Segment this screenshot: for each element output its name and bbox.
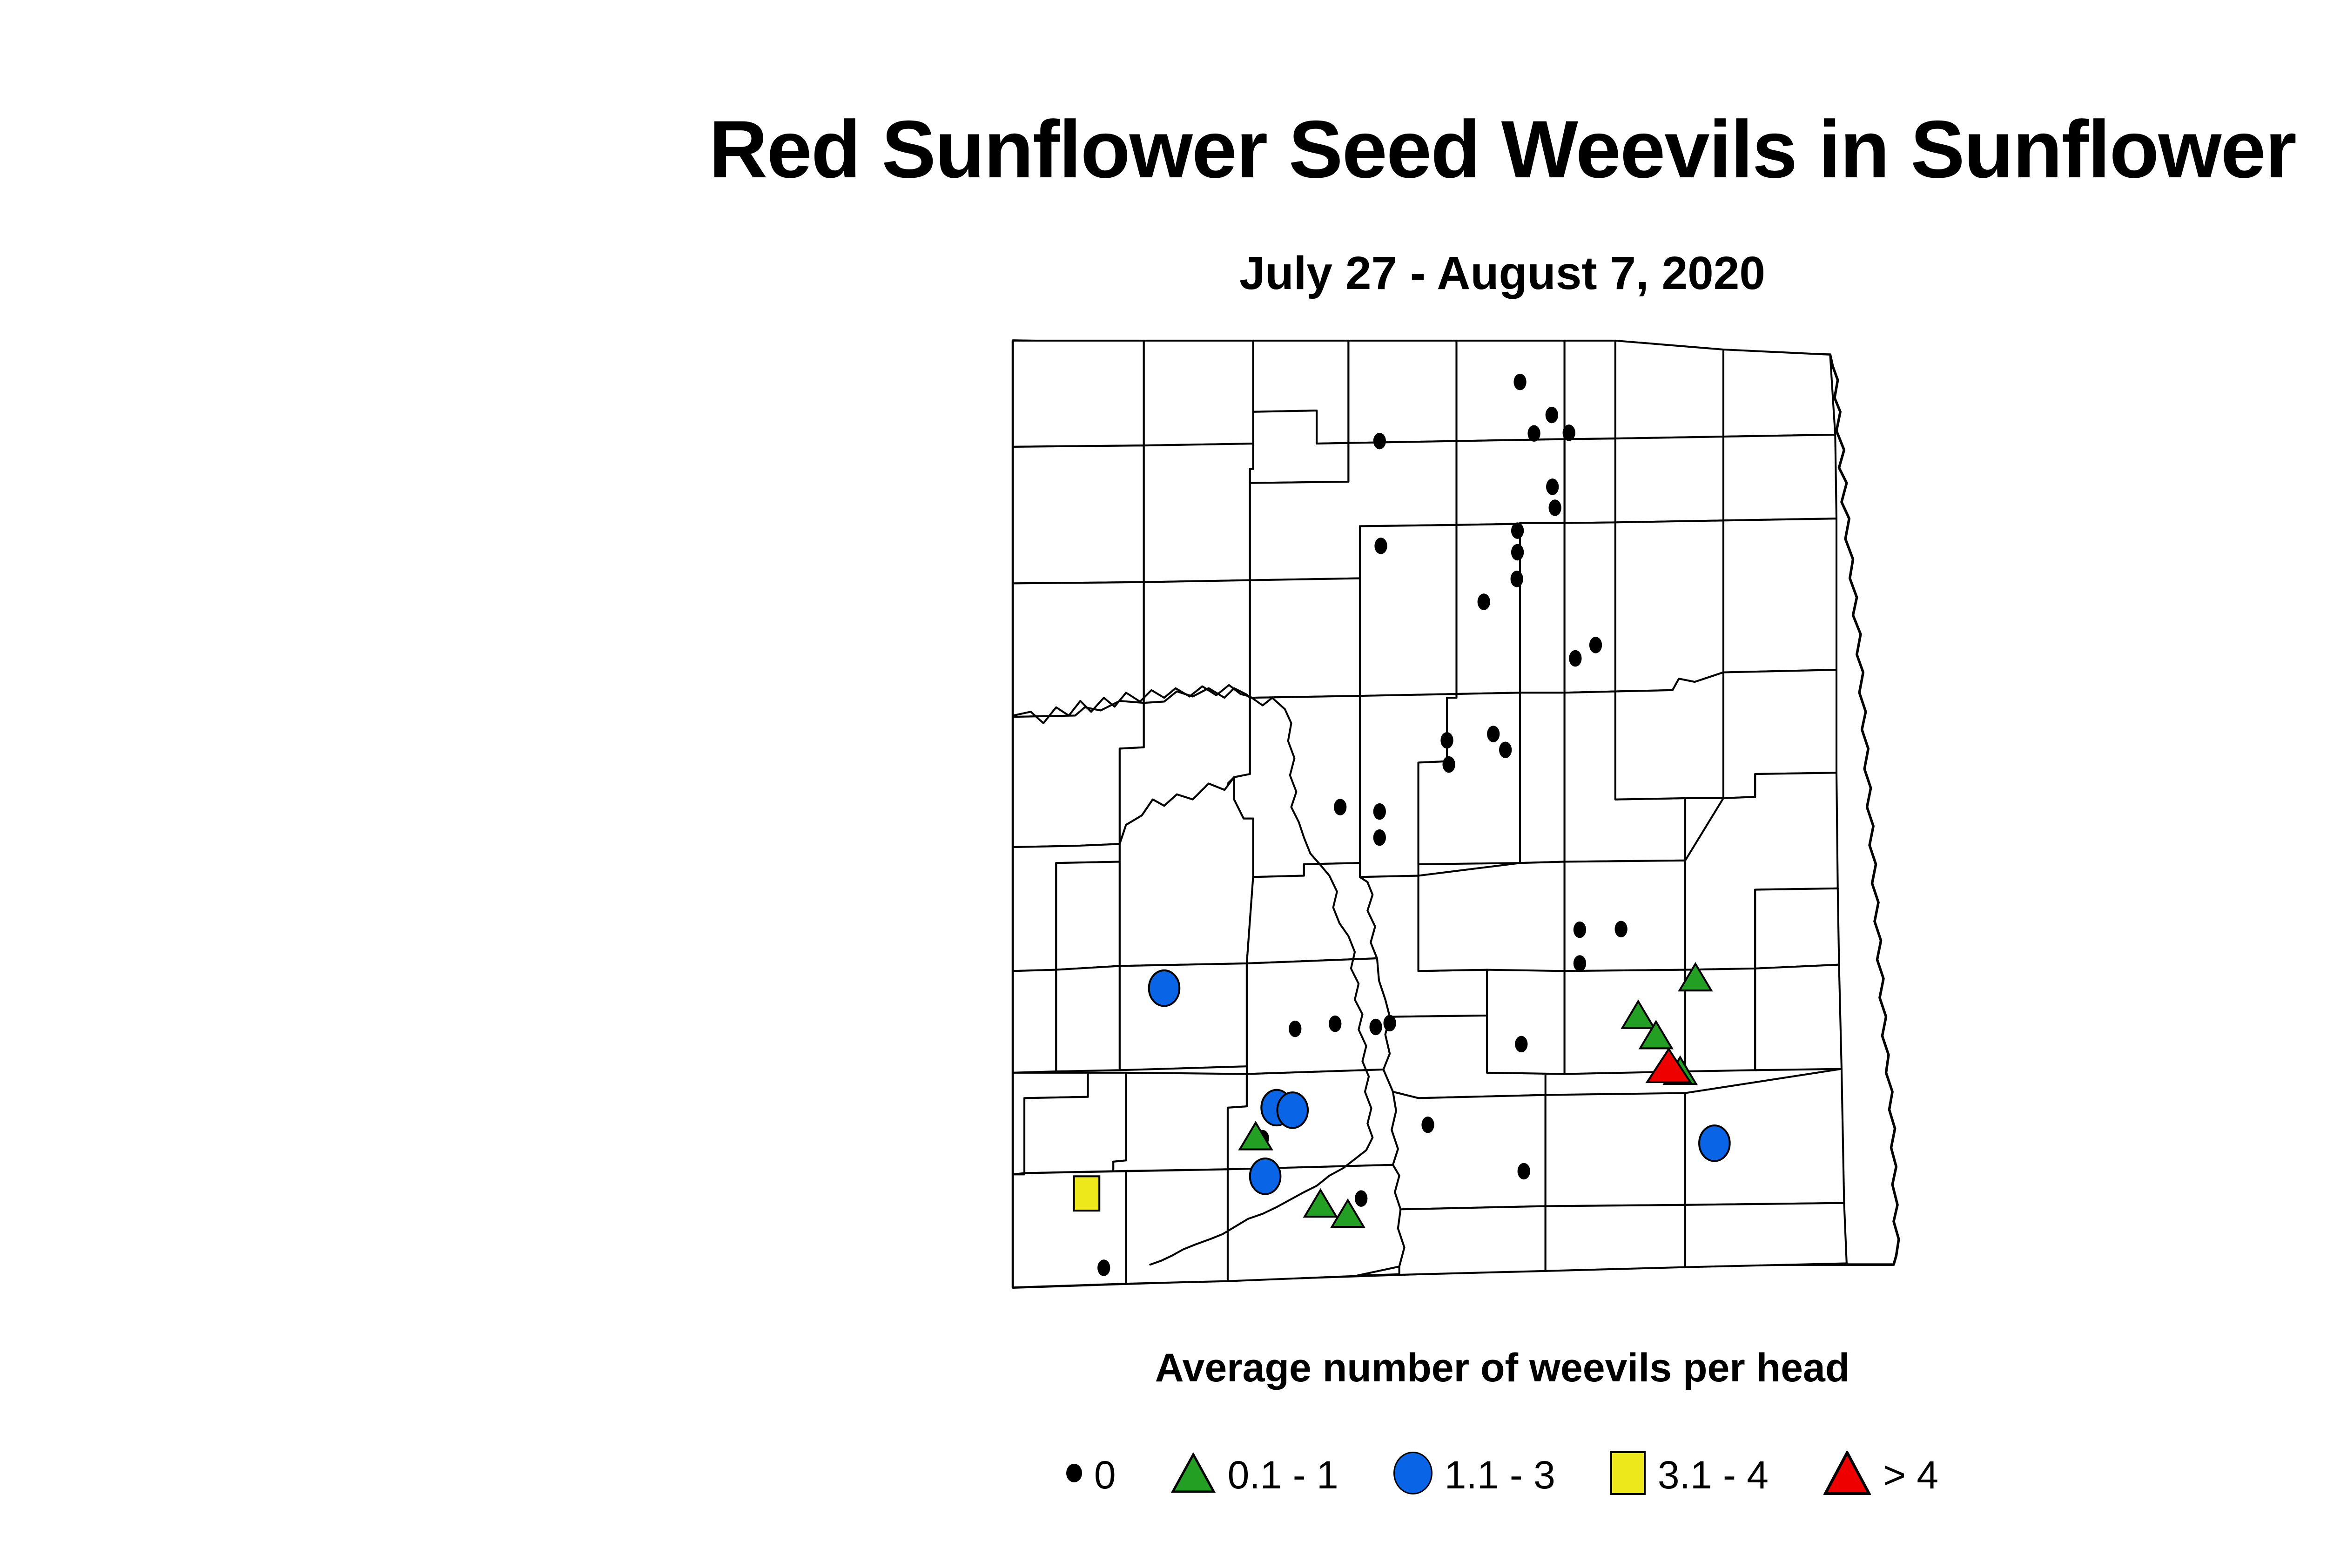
marker-zero[interactable] <box>1549 499 1561 516</box>
marker-zero[interactable] <box>1334 799 1346 815</box>
marker-zero[interactable] <box>1478 593 1490 610</box>
legend-item-zero[interactable]: 0 <box>1066 1454 1116 1493</box>
marker-zero[interactable] <box>1546 478 1559 495</box>
marker-zero[interactable] <box>1515 1036 1527 1053</box>
marker-zero[interactable] <box>1097 1259 1110 1276</box>
marker-zero[interactable] <box>1518 1163 1530 1180</box>
marker-zero[interactable] <box>1373 829 1386 846</box>
legend-label-very-high: > 4 <box>1883 1455 1938 1494</box>
marker-zero[interactable] <box>1589 637 1602 653</box>
legend-label-high: 3.1 - 4 <box>1658 1455 1769 1494</box>
yellow-square-icon <box>1610 1451 1646 1495</box>
marker-high[interactable] <box>1074 1176 1100 1211</box>
page-title: Red Sunflower Seed Weevils in Sunflower <box>0 107 2327 193</box>
legend-label-low: 0.1 - 1 <box>1228 1455 1338 1494</box>
legend-item-high[interactable]: 3.1 - 4 <box>1610 1451 1769 1495</box>
legend-label-medium: 1.1 - 3 <box>1445 1455 1555 1494</box>
legend-item-very-high[interactable]: > 4 <box>1823 1451 1938 1495</box>
map-svg <box>628 316 2304 1308</box>
marker-zero[interactable] <box>1546 407 1558 424</box>
marker-zero[interactable] <box>1373 433 1386 450</box>
green-triangle-icon <box>1171 1453 1216 1494</box>
legend-label-zero: 0 <box>1094 1455 1116 1494</box>
marker-zero[interactable] <box>1384 1015 1396 1032</box>
marker-medium[interactable] <box>1149 970 1180 1006</box>
marker-zero[interactable] <box>1527 425 1540 442</box>
marker-zero[interactable] <box>1513 374 1526 390</box>
marker-zero[interactable] <box>1421 1117 1434 1133</box>
marker-zero[interactable] <box>1574 922 1586 938</box>
red-triangle-icon <box>1823 1451 1871 1495</box>
marker-zero[interactable] <box>1511 544 1524 561</box>
marker-zero[interactable] <box>1289 1021 1301 1037</box>
marker-zero[interactable] <box>1373 803 1386 820</box>
marker-zero[interactable] <box>1569 650 1581 667</box>
legend-item-low[interactable]: 0.1 - 1 <box>1171 1453 1338 1494</box>
page-subtitle: July 27 - August 7, 2020 <box>0 249 2327 298</box>
county-boundaries <box>1013 341 1898 1287</box>
black-dot-icon <box>1066 1464 1082 1482</box>
legend: 0 0.1 - 1 1.1 - 3 3.1 - 4 > 4 <box>0 1438 2327 1508</box>
marker-zero[interactable] <box>1511 571 1523 587</box>
north-dakota-county-map[interactable] <box>628 316 2304 1308</box>
marker-zero[interactable] <box>1499 741 1512 758</box>
marker-zero[interactable] <box>1442 756 1455 773</box>
legend-title: Average number of weevils per head <box>0 1345 2327 1391</box>
marker-zero[interactable] <box>1574 955 1586 972</box>
marker-zero[interactable] <box>1369 1019 1382 1036</box>
blue-circle-icon <box>1393 1452 1433 1494</box>
marker-medium[interactable] <box>1699 1125 1730 1161</box>
marker-medium[interactable] <box>1250 1158 1281 1194</box>
legend-item-medium[interactable]: 1.1 - 3 <box>1393 1452 1555 1494</box>
marker-zero[interactable] <box>1615 921 1628 937</box>
marker-zero[interactable] <box>1329 1016 1341 1032</box>
marker-zero[interactable] <box>1440 732 1453 749</box>
marker-zero[interactable] <box>1374 538 1387 554</box>
marker-zero[interactable] <box>1355 1190 1367 1207</box>
marker-zero[interactable] <box>1487 726 1500 742</box>
marker-zero[interactable] <box>1511 522 1524 539</box>
marker-medium[interactable] <box>1277 1092 1308 1128</box>
marker-zero[interactable] <box>1563 424 1575 441</box>
map-page: Red Sunflower Seed Weevils in Sunflower … <box>0 0 2327 1568</box>
